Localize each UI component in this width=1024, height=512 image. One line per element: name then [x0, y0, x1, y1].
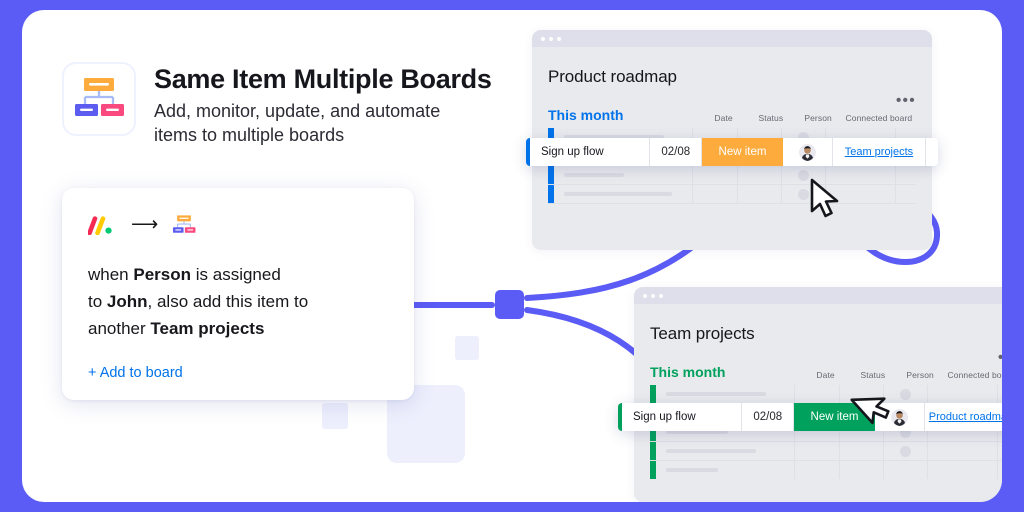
row-status-badge[interactable]: New item	[794, 403, 875, 431]
avatar-placeholder	[798, 189, 809, 200]
cell-person	[782, 185, 826, 203]
highlight-row-team-projects[interactable]: Sign up flow 02/08 New item Product road…	[618, 403, 1002, 431]
connected-board-label: Team projects	[845, 146, 913, 158]
cell-status	[738, 166, 782, 184]
recipe-line-1: when Person is assigned	[88, 262, 388, 289]
cell-connected-board	[928, 385, 997, 403]
cell-date	[795, 442, 839, 460]
recipe-text: when	[88, 265, 133, 284]
row-date[interactable]: 02/08	[650, 138, 702, 166]
cell-connected-board	[928, 442, 997, 460]
column-header-person: Person	[896, 370, 943, 380]
highlight-row-product-roadmap[interactable]: Sign up flow 02/08 New item Team project…	[526, 138, 938, 166]
monday-logo-icon	[88, 216, 118, 235]
table-row[interactable]	[650, 385, 1002, 404]
cell-connected-board	[928, 461, 997, 479]
decorative-square	[322, 403, 348, 429]
column-header-status: Status	[849, 370, 896, 380]
multiple-boards-icon-small	[171, 214, 197, 236]
cell-name	[656, 385, 795, 403]
column-header-date: Date	[802, 370, 849, 380]
group-label[interactable]: This month	[548, 107, 700, 123]
window-dot	[557, 37, 561, 41]
table-row[interactable]	[650, 461, 1002, 479]
add-to-board-button[interactable]: + Add to board	[88, 365, 388, 381]
window-dot	[541, 37, 545, 41]
column-header-connected-board: Connected board	[842, 113, 916, 123]
recipe-text: is assigned	[191, 265, 281, 284]
avatar-placeholder	[900, 446, 911, 457]
cell-status	[840, 442, 884, 460]
board-body: Product roadmap ••• This month Date Stat…	[532, 67, 932, 204]
skeleton-bar	[666, 392, 766, 396]
cell-status	[738, 185, 782, 203]
cell-person	[884, 461, 928, 479]
recipe-text: another	[88, 319, 150, 338]
arrow-right-icon: ⟶	[131, 215, 158, 234]
recipe-line-3: another Team projects	[88, 316, 388, 343]
row-item-name[interactable]: Sign up flow	[530, 138, 650, 166]
row-item-name[interactable]: Sign up flow	[622, 403, 742, 431]
column-header-status: Status	[747, 113, 794, 123]
row-tail	[926, 138, 938, 166]
board-body: Team projects ••• This month Date Status…	[634, 324, 1002, 479]
cell-status	[840, 385, 884, 403]
board-title: Team projects	[650, 324, 1002, 344]
window-dot	[651, 294, 655, 298]
page-subtitle-line-2: items to multiple boards	[154, 124, 492, 148]
multiple-boards-icon	[62, 62, 136, 136]
cell-connected-board	[826, 166, 895, 184]
row-connected-board-link[interactable]: Product roadmap	[925, 403, 1002, 431]
window-chrome	[532, 30, 932, 47]
row-person[interactable]	[875, 403, 925, 431]
column-header-connected-board: Connected board	[944, 370, 1002, 380]
cell-extra	[896, 185, 916, 203]
board-column-headers: This month Date Status Person Connected …	[650, 364, 1002, 380]
recipe-token-john[interactable]: John	[107, 292, 148, 311]
cell-date	[693, 185, 737, 203]
group-label[interactable]: This month	[650, 364, 802, 380]
avatar-placeholder	[798, 170, 809, 181]
table-row[interactable]	[548, 185, 916, 204]
connector-node[interactable]	[495, 290, 524, 319]
row-person[interactable]	[783, 138, 833, 166]
decorative-square	[455, 336, 479, 360]
automation-recipe-text: when Person is assigned to John, also ad…	[88, 262, 388, 343]
cell-extra	[998, 442, 1002, 460]
skeleton-bar	[564, 173, 624, 177]
window-chrome	[634, 287, 1002, 304]
cell-extra	[998, 385, 1002, 403]
multiple-boards-glyph	[73, 75, 125, 123]
illustration-stage: Same Item Multiple Boards Add, monitor, …	[0, 0, 1024, 512]
cell-date	[795, 461, 839, 479]
avatar-person-icon	[799, 144, 816, 161]
avatar-placeholder	[900, 389, 911, 400]
board-grid	[650, 385, 1002, 479]
row-status-badge[interactable]: New item	[702, 138, 783, 166]
table-row[interactable]	[548, 166, 916, 185]
recipe-token-team-projects[interactable]: Team projects	[150, 319, 264, 338]
recipe-token-person[interactable]: Person	[133, 265, 191, 284]
window-dot	[643, 294, 647, 298]
row-connected-board-link[interactable]: Team projects	[833, 138, 926, 166]
cell-status	[840, 461, 884, 479]
skeleton-bar	[666, 468, 718, 472]
row-date[interactable]: 02/08	[742, 403, 794, 431]
cell-extra	[896, 166, 916, 184]
window-dot	[659, 294, 663, 298]
header-block: Same Item Multiple Boards Add, monitor, …	[62, 62, 492, 148]
cell-name	[554, 185, 693, 203]
recipe-icon-row: ⟶	[88, 212, 388, 238]
cell-connected-board	[826, 185, 895, 203]
page-title: Same Item Multiple Boards	[154, 64, 492, 94]
skeleton-bar	[666, 449, 756, 453]
column-header-person: Person	[794, 113, 841, 123]
recipe-text: , also add this item to	[148, 292, 309, 311]
board-title: Product roadmap	[548, 67, 916, 87]
header-text: Same Item Multiple Boards Add, monitor, …	[154, 62, 492, 148]
window-dot	[549, 37, 553, 41]
cell-person	[884, 442, 928, 460]
cell-person	[884, 385, 928, 403]
cell-date	[693, 166, 737, 184]
board-menu-button[interactable]: •••	[896, 93, 916, 108]
cell-person	[782, 166, 826, 184]
skeleton-bar	[564, 192, 672, 196]
white-canvas: Same Item Multiple Boards Add, monitor, …	[22, 10, 1002, 502]
recipe-line-2: to John, also add this item to	[88, 289, 388, 316]
page-subtitle-line-1: Add, monitor, update, and automate	[154, 100, 492, 124]
table-row[interactable]	[650, 442, 1002, 461]
connected-board-label: Product roadmap	[929, 411, 1002, 423]
cell-name	[554, 166, 693, 184]
column-header-date: Date	[700, 113, 747, 123]
automation-recipe-card[interactable]: ⟶ when Person is assigned to John, also …	[62, 188, 414, 400]
cell-name	[656, 442, 795, 460]
avatar-person-icon	[891, 409, 908, 426]
board-column-headers: This month Date Status Person Connected …	[548, 107, 916, 123]
recipe-text: to	[88, 292, 107, 311]
cell-date	[795, 385, 839, 403]
board-menu-button[interactable]: •••	[998, 350, 1002, 365]
board-window-team-projects[interactable]: Team projects ••• This month Date Status…	[634, 287, 1002, 502]
cell-extra	[998, 461, 1002, 479]
cell-name	[656, 461, 795, 479]
